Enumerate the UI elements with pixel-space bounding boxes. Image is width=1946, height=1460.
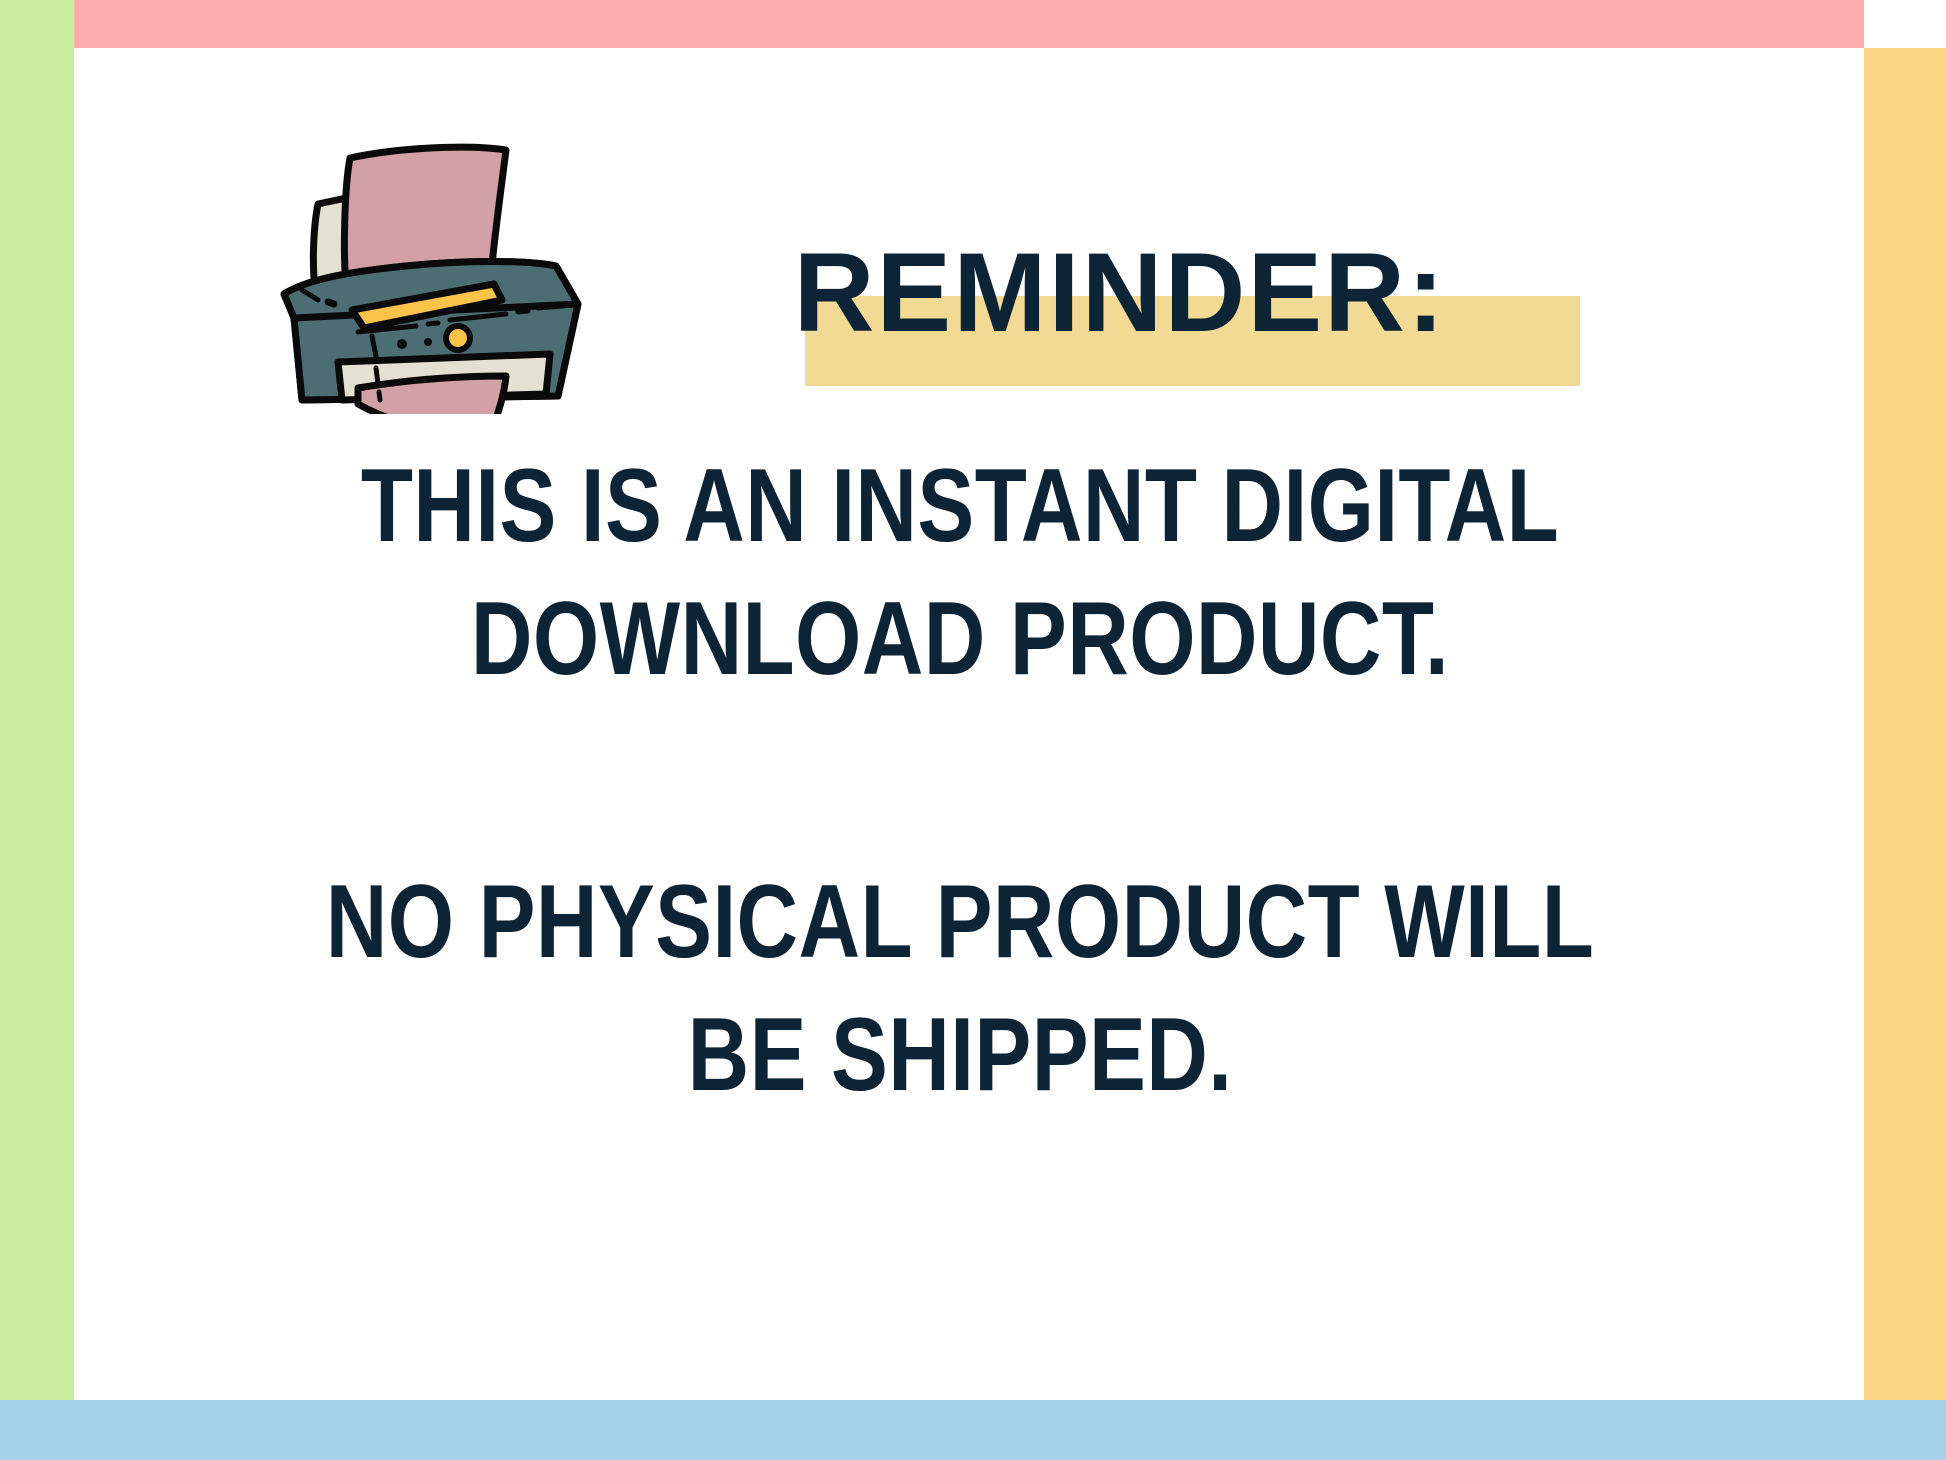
copy-paragraph-gap — [110, 706, 1810, 856]
left-green-band — [0, 0, 74, 1400]
top-pink-band — [74, 0, 1864, 48]
poster-canvas: REMINDER: THIS IS AN INSTANT DIGITAL DOW… — [0, 0, 1946, 1460]
bottom-blue-band — [0, 1400, 1946, 1460]
right-yellow-band — [1864, 48, 1946, 1400]
copy-line: THIS IS AN INSTANT DIGITAL — [263, 440, 1657, 573]
page-title: REMINDER: — [640, 218, 1600, 368]
headline-block: REMINDER: — [640, 218, 1600, 468]
copy-line: DOWNLOAD PRODUCT. — [263, 573, 1657, 706]
printer-illustration — [206, 104, 606, 414]
copy-line: BE SHIPPED. — [263, 989, 1657, 1122]
copy-line: NO PHYSICAL PRODUCT WILL — [263, 856, 1657, 989]
body-copy: THIS IS AN INSTANT DIGITAL DOWNLOAD PROD… — [110, 440, 1810, 1122]
